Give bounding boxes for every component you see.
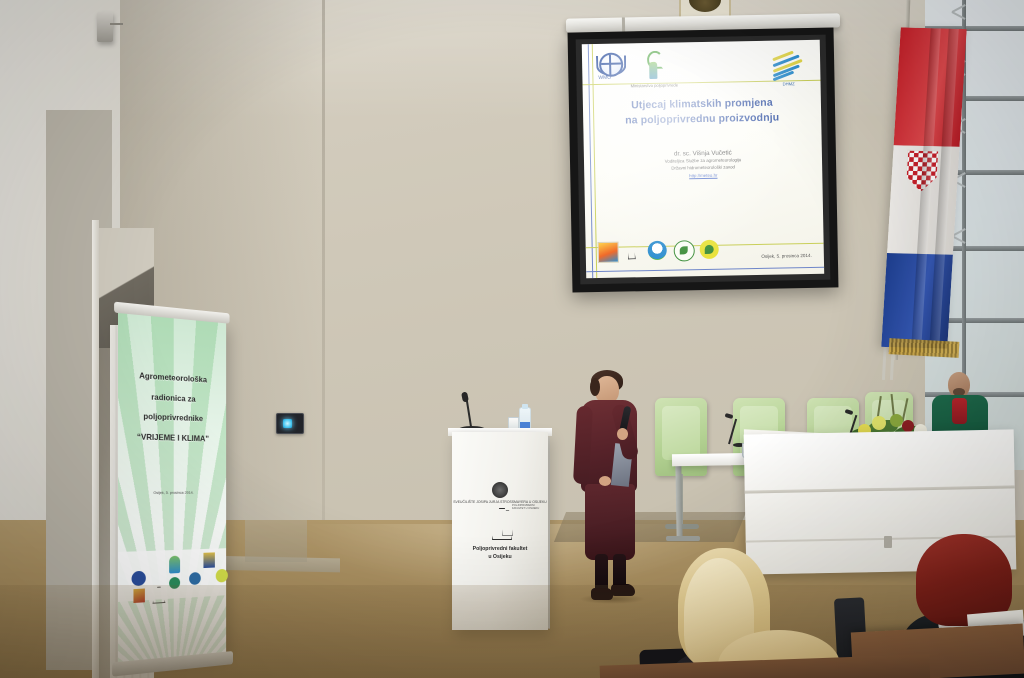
status-led-icon [283, 419, 292, 428]
wall-light-fixture-icon [97, 12, 113, 42]
wall-patch [245, 520, 307, 562]
ministarstvo-poljoprivrede-logo-icon [640, 51, 667, 82]
ministarstvo-logo-caption: Ministarstvo poljoprivrede [631, 82, 679, 88]
flower-bloom [872, 416, 886, 430]
projected-slide: WMO Ministarstvo poljoprivrede DHMZ Utje… [582, 40, 824, 279]
table-panel-seam [745, 485, 1015, 493]
slide-rule-bottom-2 [586, 267, 824, 273]
picture-content [689, 0, 721, 12]
table-latch [884, 536, 892, 548]
presenter-right-hand [617, 428, 628, 440]
flask-faculty-logo-icon [624, 241, 641, 261]
presenter-left-hand [599, 476, 611, 486]
table-foot [666, 536, 700, 541]
slide-title: Utjecaj klimatskih promjena na poljopriv… [591, 95, 814, 130]
podium-side-note: POLJOPRIVREDNI FAKULTET U OSIJEKU [512, 504, 548, 511]
slide-title-line-2: na poljoprivrednu proizvodnju [591, 110, 813, 129]
bottle-cap-icon [522, 404, 528, 409]
banner-wmo-logo-icon [132, 571, 146, 587]
presenter [573, 372, 647, 600]
slide-author-block: dr. sc. Višnja Vučetić Voditeljica Služb… [592, 147, 815, 181]
wmo-logo-caption: WMO [598, 75, 611, 81]
podium-institution-name: Poljoprivredni fakultet u Osijeku [452, 546, 548, 562]
banner-logo-3-icon [203, 552, 214, 568]
banner-logo-5-icon [189, 572, 201, 585]
slide-top-logos: WMO Ministarstvo poljoprivrede DHMZ [592, 47, 813, 91]
presenter-coat-lower [585, 484, 635, 560]
slide-bottom-logos [598, 240, 718, 264]
banner-headline: Agrometeorološka radionica za poljoprivr… [126, 365, 219, 449]
podium-crest-block: SVEUČILIŠTE JOSIPA JURJA STROSSMAYERA U … [452, 482, 548, 504]
banner-subline: Osijek, 5. prosinca 2014. [126, 490, 219, 495]
presenter-hair-side [590, 378, 600, 396]
slide-date: Osijek, 5. prosinca 2014. [761, 253, 812, 259]
sponsor-logo-1-icon [598, 242, 619, 263]
sponsor-logo-3-icon [648, 241, 667, 260]
wmo-logo-icon: WMO [596, 53, 623, 81]
dhmz-logo-icon: DHMZ [772, 52, 807, 87]
podium-institution-line-2: u Osijeku [452, 554, 548, 562]
banner-line-4: “VRIJEME I KLIMA” [126, 426, 219, 449]
sponsor-logo-5-icon [700, 240, 719, 259]
university-crest-icon [492, 482, 508, 498]
panelist-shirt [952, 398, 967, 424]
wall-corner [322, 0, 325, 560]
window-clip-icon [952, 4, 968, 20]
podium-institution-line-1: Poljoprivredni fakultet [452, 546, 548, 554]
banner-ministry-logo-icon [169, 556, 180, 574]
flask-logo-icon [490, 508, 512, 538]
flower-bloom [902, 420, 914, 432]
dhmz-logo-caption: DHMZ [783, 81, 795, 86]
projection-screen: WMO Ministarstvo poljoprivrede DHMZ Utje… [568, 27, 839, 292]
lecture-hall-photo: WMO Ministarstvo poljoprivrede DHMZ Utje… [0, 0, 1024, 678]
wall-control-panel[interactable] [276, 413, 304, 434]
sponsor-logo-4-icon [674, 240, 695, 261]
